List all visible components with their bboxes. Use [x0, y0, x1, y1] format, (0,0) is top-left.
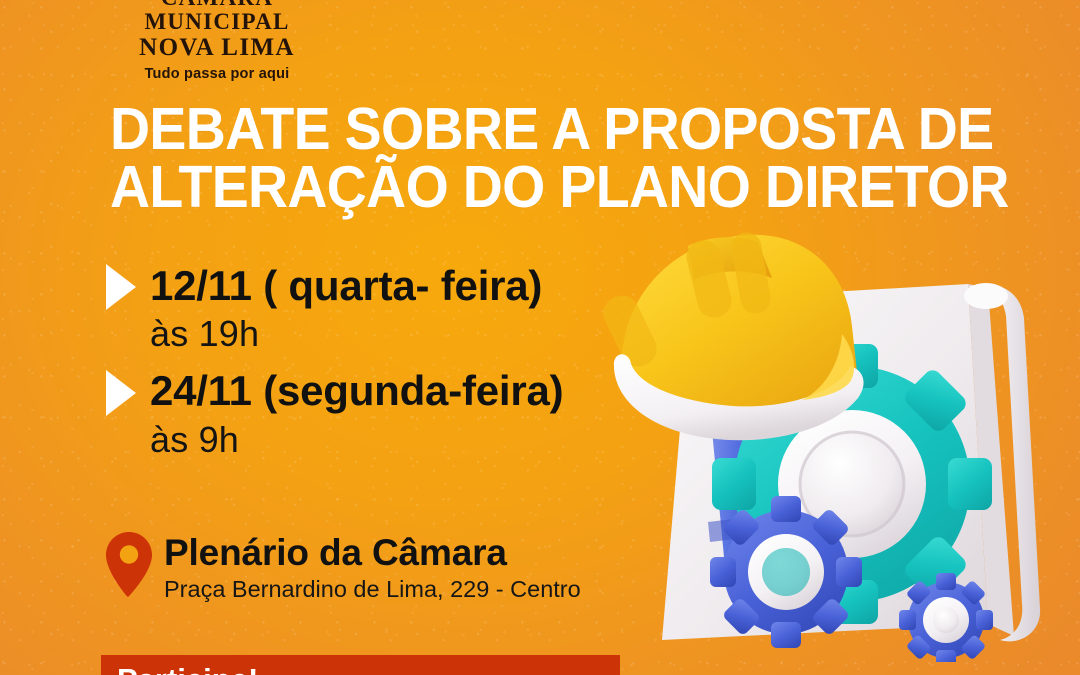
- triangle-bullet-icon: [106, 370, 136, 416]
- hard-hat-blueprint-gears-illustration: [596, 222, 1080, 662]
- city-council-logo: CÂMARA MUNICIPAL NOVA LIMA Tudo passa po…: [97, 0, 337, 82]
- map-pin-icon: [106, 532, 152, 598]
- page-title-line-1: DEBATE SOBRE A PROPOSTA DE: [110, 101, 937, 159]
- event-date-label: 12/11 ( quarta- feira): [150, 264, 542, 309]
- page-title-line-2: ALTERAÇÃO DO PLANO DIRETOR: [110, 159, 937, 217]
- hard-hat: [598, 230, 864, 440]
- poster-canvas: CÂMARA MUNICIPAL NOVA LIMA Tudo passa po…: [0, 0, 1080, 675]
- page-title: DEBATE SOBRE A PROPOSTA DE ALTERAÇÃO DO …: [110, 101, 937, 217]
- logo-tagline: Tudo passa por aqui: [97, 66, 337, 82]
- event-date-row: 24/11 (segunda-feira): [106, 368, 563, 416]
- call-to-action-text: Participe!: [101, 655, 620, 675]
- event-time-label: às 9h: [150, 420, 563, 460]
- triangle-bullet-icon: [106, 264, 136, 310]
- event-date-label: 24/11 (segunda-feira): [150, 369, 563, 414]
- venue-address: Praça Bernardino de Lima, 229 - Centro: [164, 575, 581, 603]
- event-date-row: 12/11 ( quarta- feira): [106, 262, 563, 310]
- event-date-item: 12/11 ( quarta- feira) às 19h: [106, 262, 563, 354]
- event-location-text: Plenário da Câmara Praça Bernardino de L…: [164, 528, 581, 604]
- event-time-label: às 19h: [150, 314, 563, 354]
- call-to-action-banner: Participe!: [101, 655, 620, 675]
- venue-name: Plenário da Câmara: [164, 534, 581, 572]
- event-location: Plenário da Câmara Praça Bernardino de L…: [106, 528, 581, 604]
- logo-line-2: NOVA LIMA: [97, 35, 337, 61]
- logo-line-1: CÂMARA MUNICIPAL: [97, 0, 337, 34]
- event-date-item: 24/11 (segunda-feira) às 9h: [106, 368, 563, 460]
- event-dates-list: 12/11 ( quarta- feira) às 19h 24/11 (seg…: [106, 262, 563, 473]
